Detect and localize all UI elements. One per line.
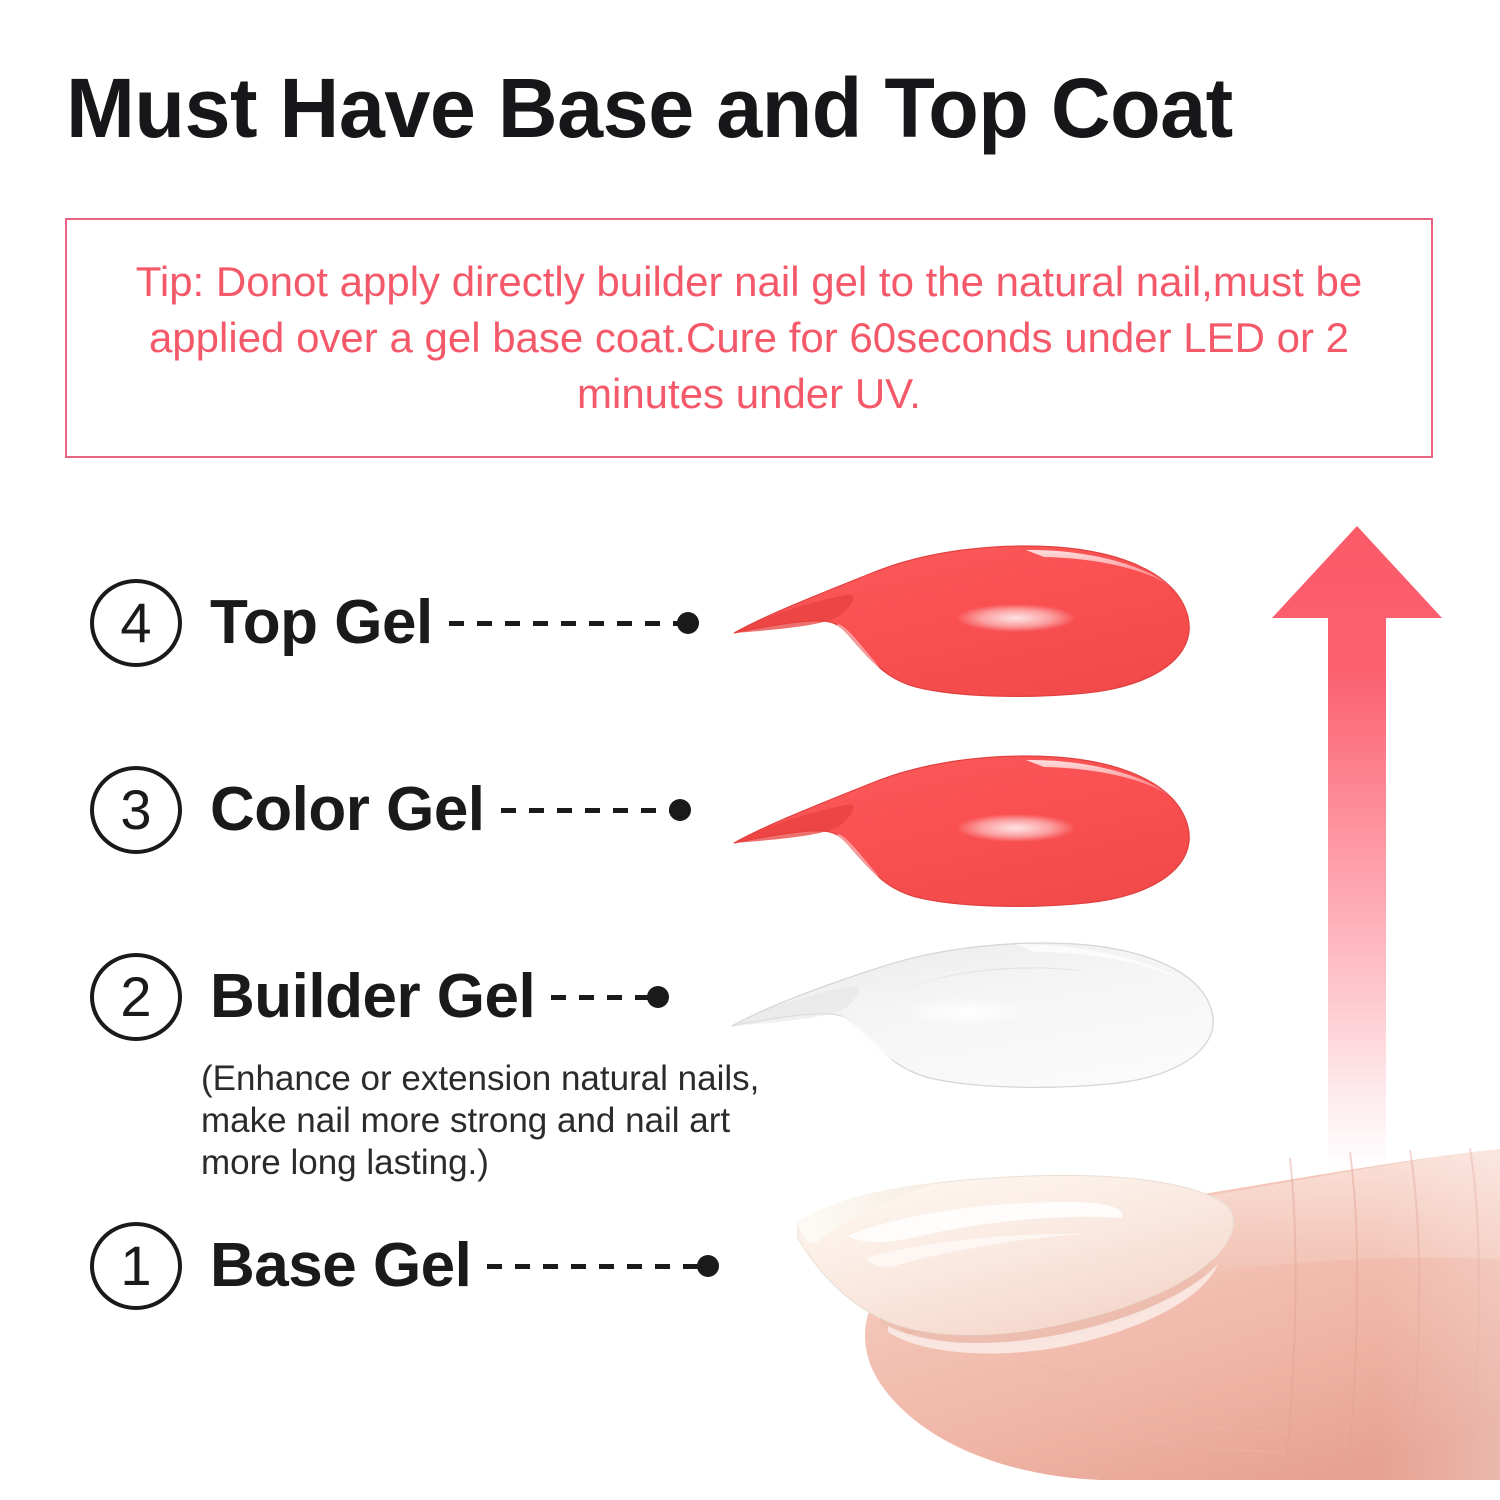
leader-line-top-gel: [449, 620, 689, 626]
color-gel-swatch: [726, 731, 1206, 926]
step-label-base-gel: Base Gel: [210, 1235, 471, 1297]
step-label-top-gel: Top Gel: [210, 592, 433, 654]
leader-line-color-gel: [501, 807, 681, 813]
leader-dashes: [501, 808, 681, 813]
step-number-badge-3: 3: [90, 766, 182, 854]
leader-dot: [677, 612, 699, 634]
leader-dashes: [487, 1264, 709, 1269]
leader-line-base-gel: [487, 1263, 709, 1269]
page-title: Must Have Base and Top Coat: [66, 62, 1425, 154]
leader-dashes: [551, 995, 659, 1000]
step-number-badge-1: 1: [90, 1222, 182, 1310]
top-gel-swatch: [726, 521, 1206, 716]
step-number-badge-2: 2: [90, 953, 182, 1041]
infographic-page: Must Have Base and Top Coat Tip: Donot a…: [0, 0, 1500, 1500]
leader-dashes: [449, 621, 689, 626]
upward-gradient-arrow-icon: [1258, 518, 1448, 1178]
step-row-color-gel: 3 Color Gel: [90, 766, 681, 854]
leader-line-builder-gel: [551, 994, 659, 1000]
builder-gel-swatch: [716, 926, 1236, 1101]
tip-callout-box: Tip: Donot apply directly builder nail g…: [65, 218, 1433, 458]
leader-dot: [697, 1255, 719, 1277]
builder-gel-note: (Enhance or extension natural nails, mak…: [201, 1058, 781, 1184]
leader-dot: [669, 799, 691, 821]
step-row-top-gel: 4 Top Gel: [90, 579, 689, 667]
step-row-builder-gel: 2 Builder Gel: [90, 953, 659, 1041]
step-number-badge-4: 4: [90, 579, 182, 667]
tip-text: Tip: Donot apply directly builder nail g…: [67, 254, 1431, 422]
leader-dot: [647, 986, 669, 1008]
finger-with-natural-nail-photo: [770, 1140, 1500, 1500]
step-label-color-gel: Color Gel: [210, 779, 485, 841]
step-label-builder-gel: Builder Gel: [210, 966, 535, 1028]
step-row-base-gel: 1 Base Gel: [90, 1222, 709, 1310]
